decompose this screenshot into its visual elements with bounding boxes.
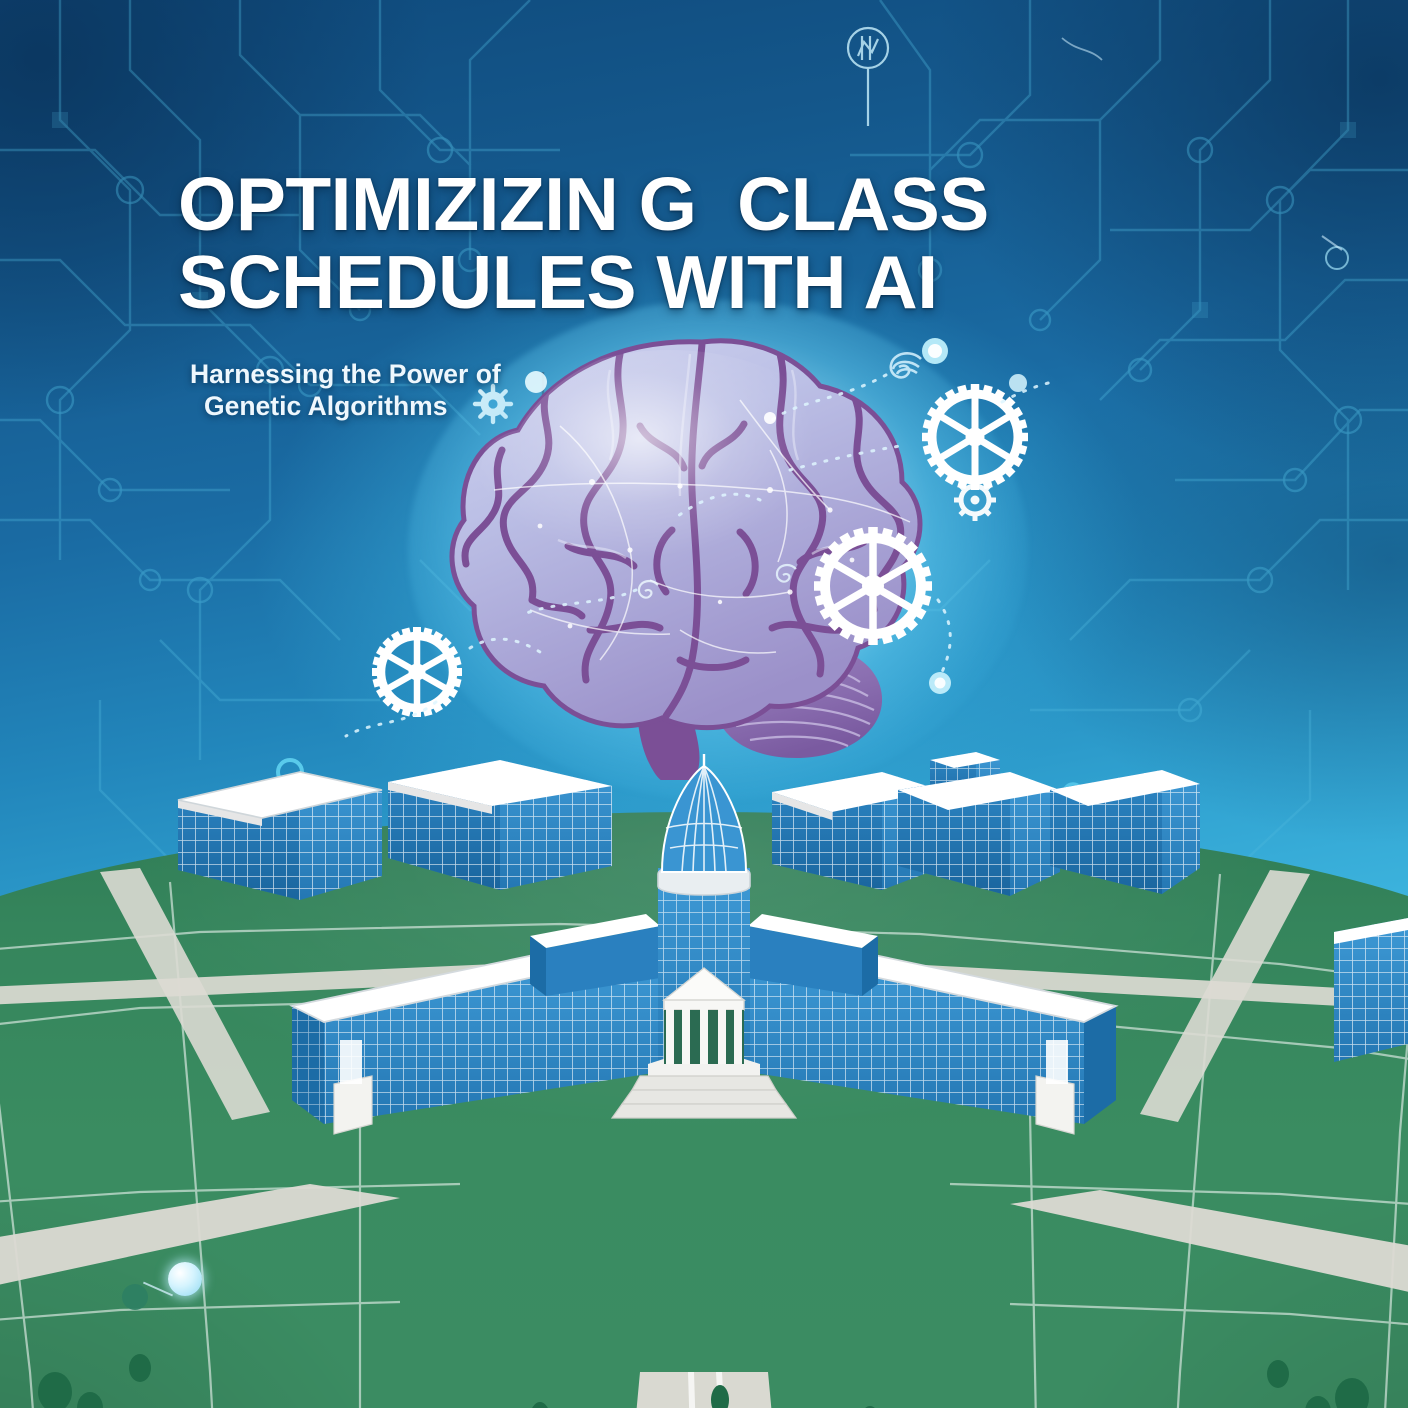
poster-subtitle: Harnessing the Power of Genetic Algorith…	[190, 358, 610, 423]
poster-title-line-2: SCHEDULES WITH AI	[178, 246, 1278, 318]
building-right-edge	[1334, 918, 1408, 1062]
building-back-2	[388, 760, 612, 890]
poster-canvas: OPTIMIZIZIN G CLASS SCHEDULES WITH AI Ha…	[0, 0, 1408, 1408]
subtitle-line-1: Harnessing the Power of	[190, 359, 501, 389]
building-back-5	[1050, 770, 1200, 894]
title-block: OPTIMIZIZIN G CLASS SCHEDULES WITH AI	[178, 168, 1278, 318]
subtitle-line-2: Genetic Algorithms	[190, 390, 610, 422]
building-back-4	[898, 772, 1060, 896]
building-back-1	[178, 772, 382, 900]
poster-title-line-1: OPTIMIZIZIN G CLASS	[178, 168, 1278, 240]
